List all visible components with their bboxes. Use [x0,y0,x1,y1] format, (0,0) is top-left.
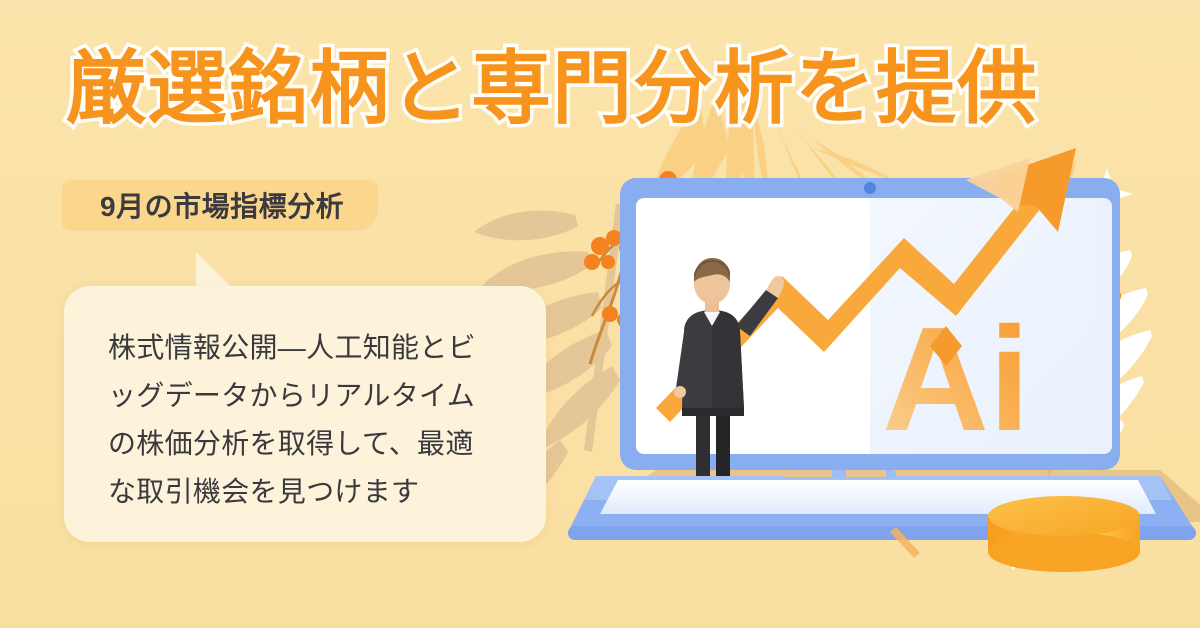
ai-logo: Ai [882,297,1030,462]
card-tail [196,252,234,290]
laptop-illustration: Ai [560,140,1200,628]
page-title: 厳選銘柄と専門分析を提供 [66,44,1038,134]
webcam-icon [864,182,876,194]
ai-logo-text: Ai [882,297,1030,462]
gold-coin [988,496,1140,572]
description-text: 株式情報公開—人工知能とビ ッグデータからリアルタイム の株価分析を取得して、最… [108,324,528,516]
banner-canvas: Ai [0,0,1200,628]
subtitle-badge: 9月の市場指標分析 [62,180,378,230]
coin-top-face [988,496,1140,536]
